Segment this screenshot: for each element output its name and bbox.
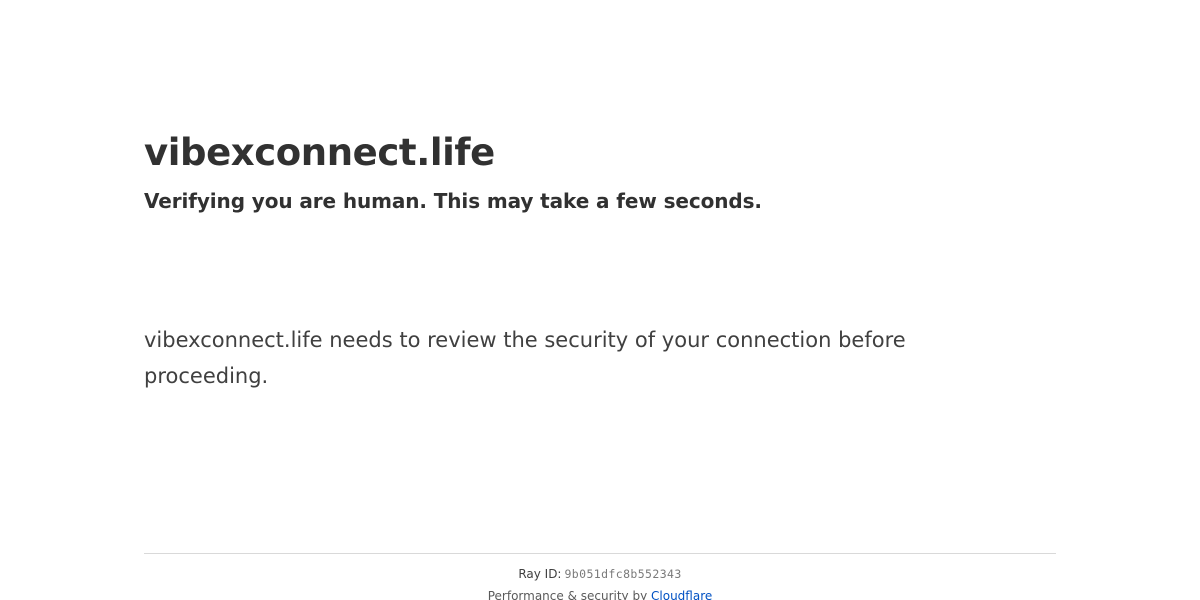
content-container: vibexconnect.life Verifying you are huma…: [144, 0, 1056, 600]
body-block: vibexconnect.life needs to review the se…: [144, 322, 944, 394]
page-title: vibexconnect.life: [144, 131, 1056, 175]
verification-status-text: Verifying you are human. This may take a…: [144, 175, 1056, 215]
heading-block: vibexconnect.life Verifying you are huma…: [144, 131, 1056, 215]
challenge-page: vibexconnect.life Verifying you are huma…: [0, 0, 1200, 600]
ray-id-line: Ray ID:9b051dfc8b552343: [144, 566, 1056, 582]
challenge-description: vibexconnect.life needs to review the se…: [144, 322, 944, 394]
cloudflare-link[interactable]: Cloudflare: [651, 589, 712, 600]
ray-id-value: 9b051dfc8b552343: [561, 567, 681, 581]
footer: Ray ID:9b051dfc8b552343 Performance & se…: [144, 553, 1056, 600]
turnstile-widget[interactable]: [144, 248, 464, 314]
attribution-line: Performance & security by Cloudflare: [144, 582, 1056, 600]
attribution-prefix: Performance & security by: [488, 589, 651, 600]
ray-id-label: Ray ID:: [518, 567, 561, 581]
